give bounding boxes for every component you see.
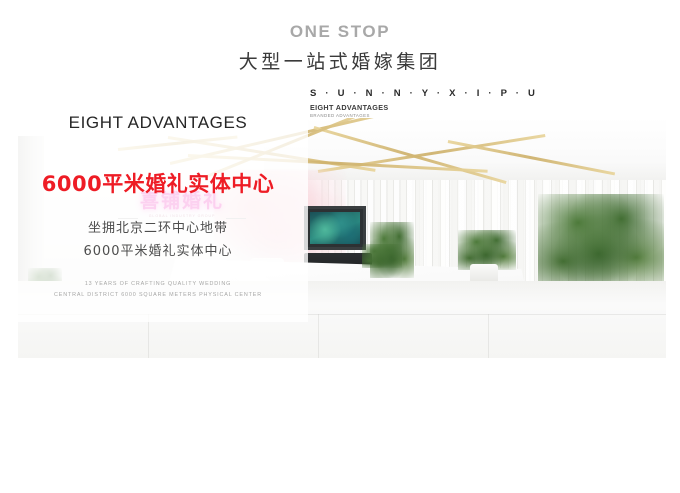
display-screen [304,206,366,250]
page-header: ONE STOP 大型一站式婚嫁集团 [0,0,680,80]
overlay-body-line: 坐拥北京二环中心地带 [8,217,308,236]
overlay-heading: EIGHT ADVANTAGES [8,113,308,133]
plant-tv-right [370,222,414,278]
floor-seam [318,314,319,358]
overlay-headline: 6000平米婚礼实体中心 [8,168,308,198]
page-title: 大型一站式婚嫁集团 [0,47,680,74]
brand-tagline-primary: EIGHT ADVANTAGES [310,103,520,112]
display-screen-content [310,212,360,244]
floor-seam [488,314,489,358]
brand-tagline-secondary: BRANDED ADVANTAGES [310,113,520,118]
brand-name: S · U · N · N · Y · X · I · P · U [310,88,520,99]
overlay-caption-line: CENTRAL DISTRICT 6000 SQUARE METERS PHYS… [8,292,308,298]
overlay-body-line: 6000平米婚礼实体中心 [8,240,308,259]
advantage-overlay-panel: EIGHT ADVANTAGES 6000平米婚礼实体中心 坐拥北京二环中心地带… [8,80,308,322]
overlay-caption-line: 13 YEARS OF CRAFTING QUALITY WEDDING [8,281,308,287]
brand-block: S · U · N · N · Y · X · I · P · U EIGHT … [310,88,520,118]
plant-right-large [538,194,664,290]
header-eyebrow: ONE STOP [0,22,680,42]
